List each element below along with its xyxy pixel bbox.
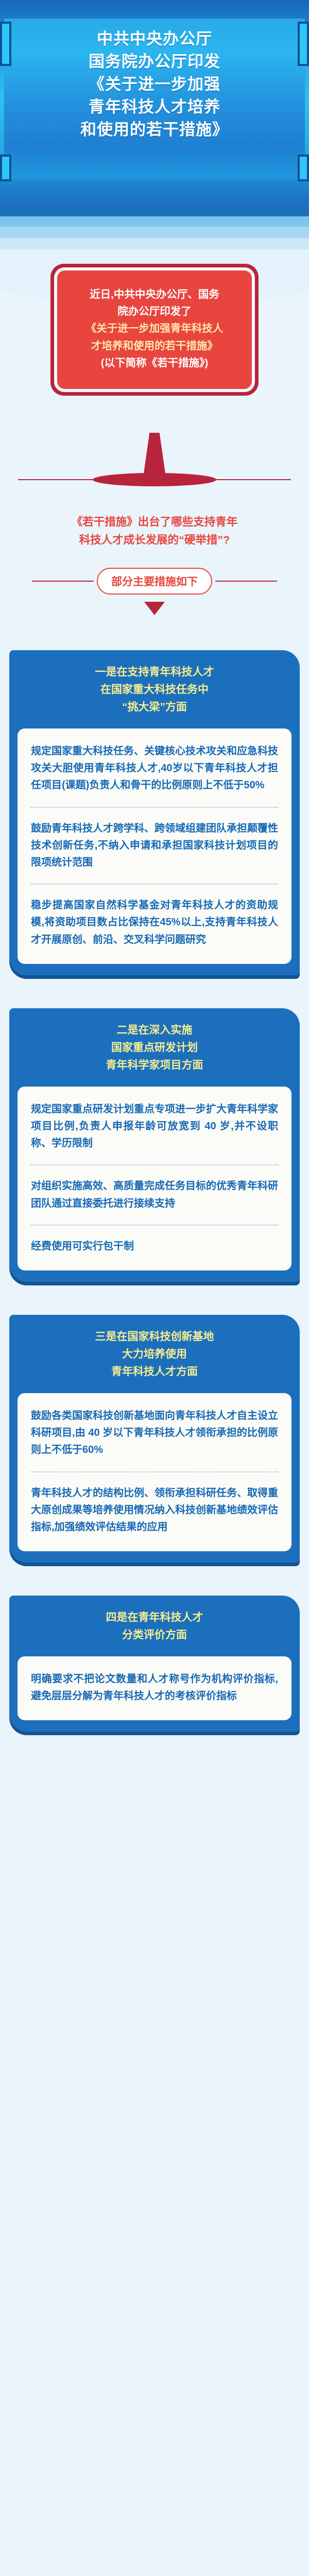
section-heading-line: 分类评价方面	[23, 1626, 286, 1644]
section-content-card: 规定国家重大科技任务、关键核心技术攻关和应急科技攻关大胆使用青年科技人才,40岁…	[18, 728, 291, 964]
page-title-line: 中共中央办公厅	[15, 28, 294, 50]
measure-section-3: 三是在国家科技创新基地 大力培养使用 青年科技人才方面 鼓励各类国家科技创新基地…	[9, 1315, 300, 1563]
pedestal-stem-icon	[143, 433, 166, 477]
page-title-line: 《关于进一步加强	[15, 73, 294, 96]
section-heading: 三是在国家科技创新基地 大力培养使用 青年科技人才方面	[9, 1328, 300, 1393]
section-heading-line: 国家重点研发计划	[23, 1039, 286, 1057]
measure-section-1: 一是在支持青年科技人才 在国家重大科技任务中 “挑大梁”方面 规定国家重大科技任…	[9, 650, 300, 975]
section-heading-line: 三是在国家科技创新基地	[23, 1328, 286, 1346]
intro-line: (以下简称《若干措施》)	[71, 354, 238, 371]
section-content-card: 明确要求不把论文数量和人才称号作为机构评价指标,避免层层分解为青年科技人才的考核…	[18, 1656, 291, 1720]
header-banner: 中共中央办公厅 国务院办公厅印发 《关于进一步加强 青年科技人才培养 和使用的若…	[0, 0, 309, 206]
section-heading-line: 青年科技人才方面	[23, 1363, 286, 1381]
intro-card-outer-frame: 近日,中共中央办公厅、国务 院办公厅印发了 《关于进一步加强青年科技人 才培养和…	[50, 264, 259, 396]
paragraph-divider	[31, 884, 278, 885]
intro-line-highlight: 《关于进一步加强青年科技人	[71, 320, 238, 337]
intro-card: 近日,中共中央办公厅、国务 院办公厅印发了 《关于进一步加强青年科技人 才培养和…	[57, 270, 252, 389]
section-content-card: 鼓励各类国家科技创新基地面向青年科技人才自主设立科研项目,由 40 岁以下青年科…	[18, 1393, 291, 1551]
section-heading-line: 四是在青年科技人才	[23, 1609, 286, 1626]
measure-paragraph: 规定国家重点研发计划重点专项进一步扩大青年科学家项目比例,负责人申报年龄可放宽到…	[31, 1101, 278, 1153]
corner-bracket-bottom-left-icon	[0, 155, 11, 181]
section-card: 一是在支持青年科技人才 在国家重大科技任务中 “挑大梁”方面 规定国家重大科技任…	[9, 650, 300, 975]
paragraph-divider	[31, 1225, 278, 1226]
question-heading: 《若干措施》出台了哪些支持青年 科技人才成长发展的“硬举措”?	[0, 513, 309, 549]
measure-paragraph: 鼓励各类国家科技创新基地面向青年科技人才自主设立科研项目,由 40 岁以下青年科…	[31, 1408, 278, 1459]
pedestal-horizontal-rule	[18, 479, 291, 480]
pill-rule-right	[215, 581, 277, 582]
question-line: 科技人才成长发展的“硬举措”?	[0, 531, 309, 549]
pedestal-decoration	[0, 433, 309, 495]
measure-paragraph: 明确要求不把论文数量和人才称号作为机构评价指标,避免层层分解为青年科技人才的考核…	[31, 1671, 278, 1705]
measures-pill-label: 部分主要措施如下	[97, 568, 212, 595]
infographic-page: 中共中央办公厅 国务院办公厅印发 《关于进一步加强 青年科技人才培养 和使用的若…	[0, 0, 309, 2576]
intro-line: 近日,中共中央办公厅、国务	[71, 286, 238, 303]
measures-pill-row: 部分主要措施如下	[0, 568, 309, 595]
measure-paragraph: 经费使用可实行包干制	[31, 1238, 278, 1255]
measure-paragraph: 稳步提高国家自然科学基金对青年科技人才的资助规模,将资助项目数占比保持在45%以…	[31, 897, 278, 948]
section-heading-line: 一是在支持青年科技人才	[23, 664, 286, 681]
section-content-card: 规定国家重点研发计划重点专项进一步扩大青年科学家项目比例,负责人申报年龄可放宽到…	[18, 1087, 291, 1270]
section-heading: 一是在支持青年科技人才 在国家重大科技任务中 “挑大梁”方面	[9, 664, 300, 728]
chevron-down-icon	[144, 602, 165, 615]
question-line: 《若干措施》出台了哪些支持青年	[0, 513, 309, 531]
paragraph-divider	[31, 1164, 278, 1165]
paragraph-divider	[31, 1471, 278, 1472]
measure-paragraph: 青年科技人才的结构比例、领衔承担科研任务、取得重大原创成果等培养使用情况纳入科技…	[31, 1485, 278, 1536]
page-title-line: 国务院办公厅印发	[15, 50, 294, 73]
section-heading: 二是在深入实施 国家重点研发计划 青年科学家项目方面	[9, 1022, 300, 1087]
page-title: 中共中央办公厅 国务院办公厅印发 《关于进一步加强 青年科技人才培养 和使用的若…	[0, 0, 309, 141]
measure-paragraph: 鼓励青年科技人才跨学科、跨领域组建团队承担颠覆性技术创新任务,不纳入申请和承担国…	[31, 820, 278, 872]
corner-bracket-bottom-right-icon	[298, 155, 309, 181]
intro-line-highlight: 才培养和使用的若干措施》	[71, 337, 238, 354]
intro-card-inner-frame: 近日,中共中央办公厅、国务 院办公厅印发了 《关于进一步加强青年科技人 才培养和…	[54, 267, 255, 392]
section-card: 二是在深入实施 国家重点研发计划 青年科学家项目方面 规定国家重点研发计划重点专…	[9, 1008, 300, 1282]
pill-rule-left	[32, 581, 94, 582]
paragraph-divider	[31, 807, 278, 808]
section-heading: 四是在青年科技人才 分类评价方面	[9, 1609, 300, 1656]
measures-list: 一是在支持青年科技人才 在国家重大科技任务中 “挑大梁”方面 规定国家重大科技任…	[0, 650, 309, 1765]
intro-card-wrapper: 近日,中共中央办公厅、国务 院办公厅印发了 《关于进一步加强青年科技人 才培养和…	[0, 264, 309, 396]
measure-paragraph: 规定国家重大科技任务、关键核心技术攻关和应急科技攻关大胆使用青年科技人才,40岁…	[31, 743, 278, 794]
measure-section-4: 四是在青年科技人才 分类评价方面 明确要求不把论文数量和人才称号作为机构评价指标…	[9, 1596, 300, 1732]
page-title-line: 和使用的若干措施》	[15, 118, 294, 141]
section-heading-line: 在国家重大科技任务中	[23, 681, 286, 699]
section-card: 三是在国家科技创新基地 大力培养使用 青年科技人才方面 鼓励各类国家科技创新基地…	[9, 1315, 300, 1563]
measure-paragraph: 对组织实施高效、高质量完成任务目标的优秀青年科研团队通过直接委托进行接续支持	[31, 1178, 278, 1212]
section-heading-line: “挑大梁”方面	[23, 699, 286, 716]
section-heading-line: 二是在深入实施	[23, 1022, 286, 1039]
section-card: 四是在青年科技人才 分类评价方面 明确要求不把论文数量和人才称号作为机构评价指标…	[9, 1596, 300, 1732]
measure-section-2: 二是在深入实施 国家重点研发计划 青年科学家项目方面 规定国家重点研发计划重点专…	[9, 1008, 300, 1282]
intro-line: 院办公厅印发了	[71, 303, 238, 320]
section-heading-line: 大力培养使用	[23, 1346, 286, 1363]
page-title-line: 青年科技人才培养	[15, 96, 294, 118]
section-heading-line: 青年科学家项目方面	[23, 1057, 286, 1074]
